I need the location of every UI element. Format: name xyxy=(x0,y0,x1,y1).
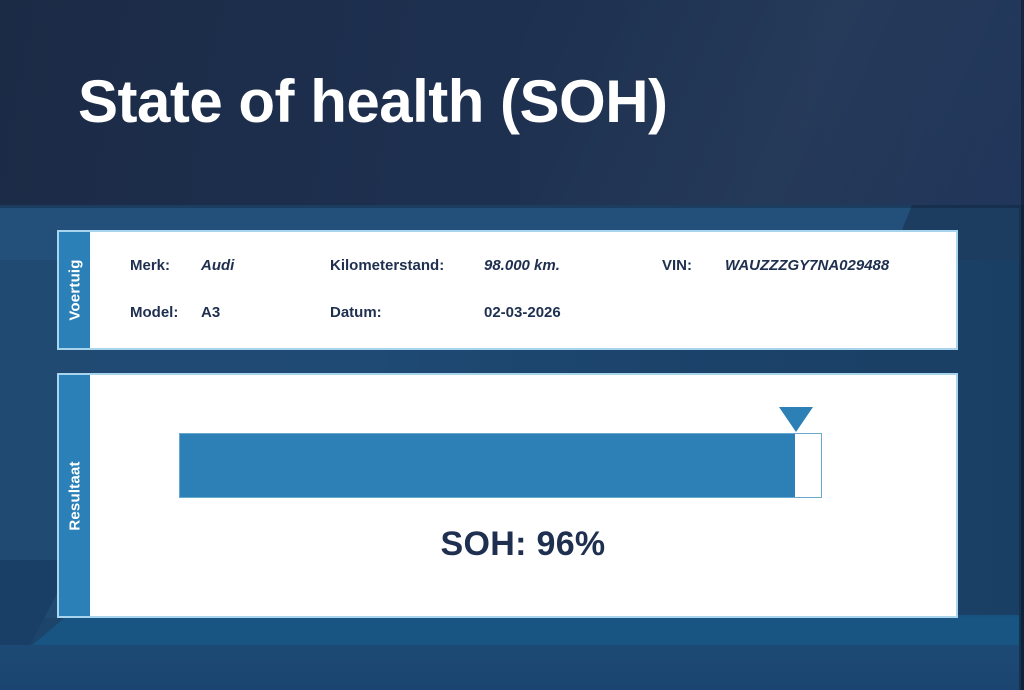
result-card: Resultaat SOH: 96% xyxy=(57,373,958,618)
slide-canvas: State of health (SOH) Voertuig Merk: Aud… xyxy=(0,0,1024,690)
vehicle-card-tab: Voertuig xyxy=(59,232,90,348)
background-header-underline xyxy=(0,205,1024,208)
page-title: State of health (SOH) xyxy=(78,72,668,132)
field-label-kilometerstand: Kilometerstand: xyxy=(330,257,444,274)
soh-gauge-marker-triangle-icon xyxy=(779,407,813,432)
field-value-model: A3 xyxy=(201,304,220,321)
vehicle-info-card: Voertuig Merk: Audi Model: A3 Kilometers… xyxy=(57,230,958,350)
vehicle-card-body: Merk: Audi Model: A3 Kilometerstand: 98.… xyxy=(90,232,956,348)
soh-gauge-fill xyxy=(180,434,795,497)
result-card-tab: Resultaat xyxy=(59,375,90,616)
vehicle-card-tab-label: Voertuig xyxy=(66,259,83,320)
soh-value-caption: SOH: 96% xyxy=(90,525,956,564)
soh-gauge-track xyxy=(179,433,822,498)
result-card-body: SOH: 96% xyxy=(90,375,956,616)
field-value-datum: 02-03-2026 xyxy=(484,304,561,321)
soh-gauge: SOH: 96% xyxy=(90,375,956,616)
field-label-merk: Merk: xyxy=(130,257,170,274)
background-accent-band-bottom xyxy=(0,615,1024,647)
field-label-vin: VIN: xyxy=(662,257,692,274)
field-value-merk: Audi xyxy=(201,257,234,274)
field-label-model: Model: xyxy=(130,304,178,321)
field-label-datum: Datum: xyxy=(330,304,382,321)
field-value-vin: WAUZZZGY7NA029488 xyxy=(725,257,889,274)
background-bottom-fill xyxy=(0,645,1024,690)
field-value-kilometerstand: 98.000 km. xyxy=(484,257,560,274)
result-card-tab-label: Resultaat xyxy=(66,461,83,530)
vehicle-field-grid: Merk: Audi Model: A3 Kilometerstand: 98.… xyxy=(90,232,956,348)
